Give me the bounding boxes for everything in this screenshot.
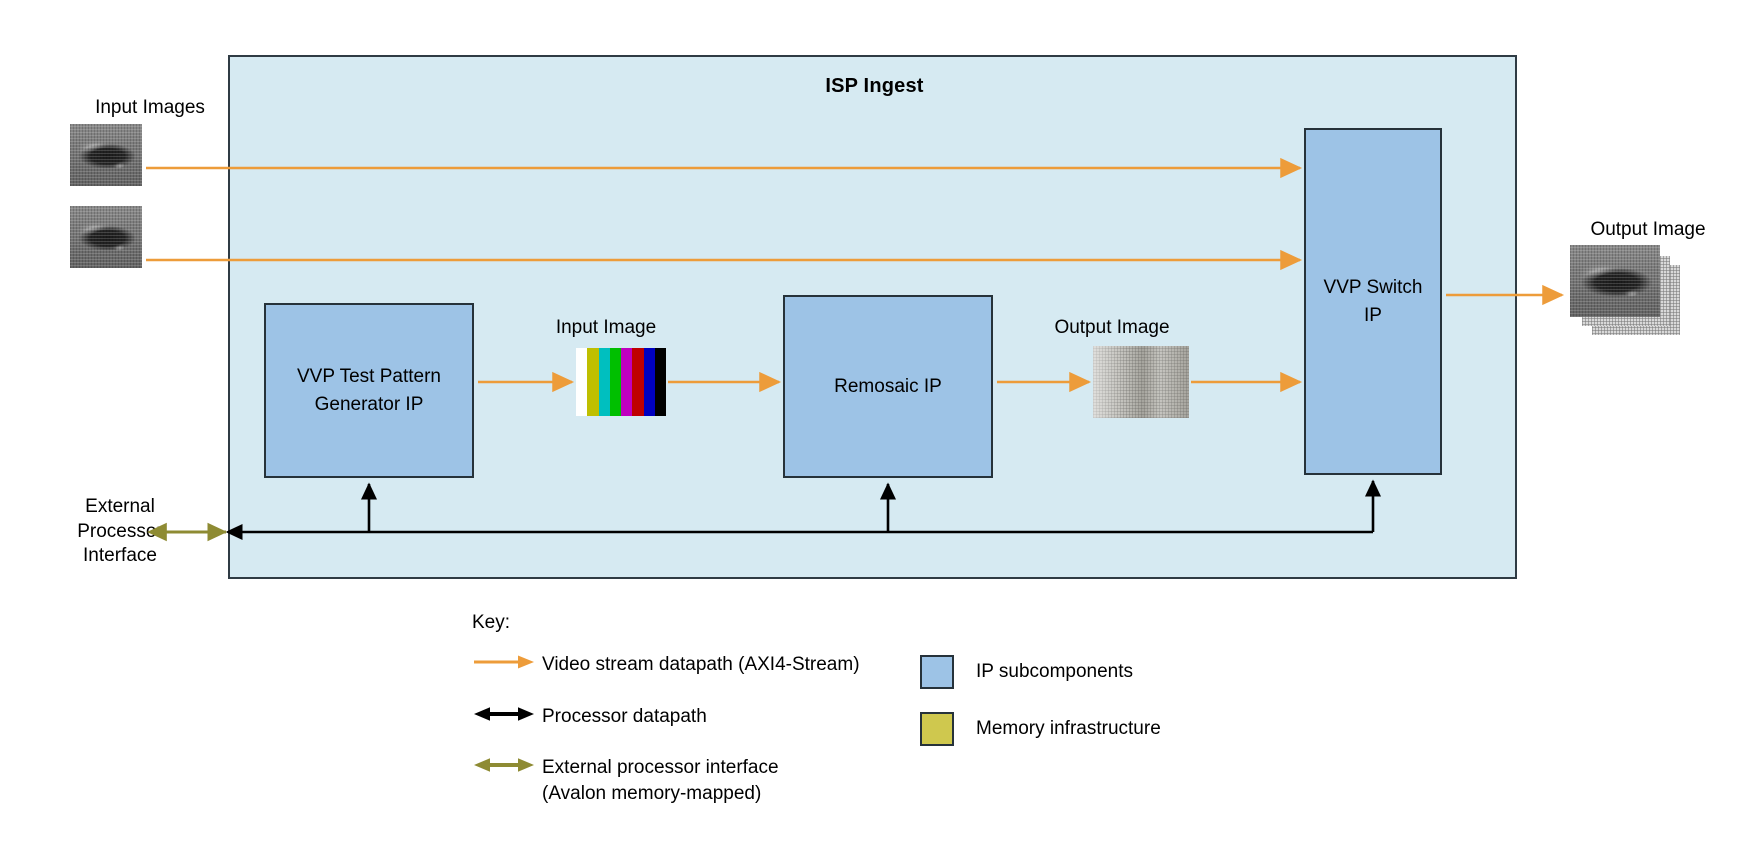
key-item-video-stream-label: Video stream datapath (AXI4-Stream)	[542, 652, 860, 678]
key-item-external-interface: External processor interface (Avalon mem…	[472, 755, 860, 806]
key-item-processor-datapath: Processor datapath	[472, 704, 860, 730]
olive-double-arrow-icon	[472, 757, 542, 778]
key-swatch-ip-subcomponents-label: IP subcomponents	[976, 659, 1133, 685]
connector-layer	[0, 0, 1746, 850]
key-item-video-stream: Video stream datapath (AXI4-Stream)	[472, 652, 860, 678]
diagram-canvas: ISP Ingest VVP Test Pattern Generator IP…	[0, 0, 1746, 850]
key-legend-swatches: IP subcomponents Memory infrastructure	[920, 655, 1161, 769]
key-swatch-memory-infrastructure-label: Memory infrastructure	[976, 716, 1161, 742]
black-double-arrow-icon	[472, 706, 542, 727]
key-item-external-interface-label: External processor interface (Avalon mem…	[542, 755, 779, 806]
blue-square-icon	[920, 655, 954, 689]
key-item-processor-datapath-label: Processor datapath	[542, 704, 707, 730]
olive-square-icon	[920, 712, 954, 746]
key-swatch-ip-subcomponents: IP subcomponents	[920, 655, 1161, 689]
key-legend: Key: Video stream datapath (AXI4-Stream)…	[472, 612, 860, 833]
key-title: Key:	[472, 612, 860, 634]
orange-single-arrow-icon	[472, 654, 542, 675]
key-swatch-memory-infrastructure: Memory infrastructure	[920, 712, 1161, 746]
